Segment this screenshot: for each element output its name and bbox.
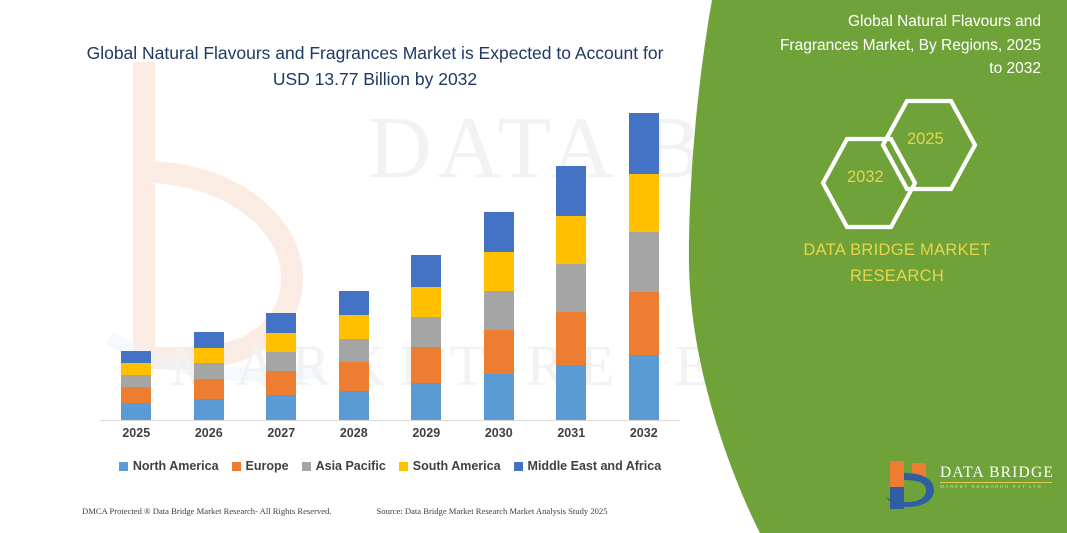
x-axis-label-2027: 2027 <box>245 426 318 440</box>
legend-label: North America <box>133 459 219 473</box>
chart-title: Global Natural Flavours and Fragrances M… <box>70 40 680 93</box>
legend-label: Asia Pacific <box>316 459 386 473</box>
bar-segment[interactable] <box>266 395 296 421</box>
bar-segment[interactable] <box>411 287 441 317</box>
bar-segment[interactable] <box>339 315 369 338</box>
x-axis-label-2031: 2031 <box>535 426 608 440</box>
chart-legend: North AmericaEuropeAsia PacificSouth Ame… <box>100 455 680 477</box>
x-axis-label-2026: 2026 <box>173 426 246 440</box>
bar-segment[interactable] <box>629 113 659 174</box>
bar-segment[interactable] <box>194 379 224 399</box>
data-bridge-logo: DATA BRIDGE MARKET RESEARCH PVT LTD <box>882 455 1062 517</box>
legend-item[interactable]: North America <box>119 459 219 473</box>
infographic-canvas: DATA BRIDGE MARKET RESEARCH Global Natur… <box>0 0 1067 533</box>
bar-segment[interactable] <box>121 351 151 363</box>
bar-segment[interactable] <box>266 313 296 333</box>
bar-segment[interactable] <box>194 348 224 363</box>
bar-group[interactable] <box>266 313 296 421</box>
panel-brand-text: DATA BRIDGE MARKET RESEARCH <box>757 237 1037 290</box>
bar-segment[interactable] <box>556 216 586 264</box>
bar-segment[interactable] <box>121 363 151 375</box>
bar-segment[interactable] <box>411 255 441 287</box>
bar-group[interactable] <box>629 113 659 421</box>
legend-swatch-icon <box>232 462 241 471</box>
bar-segment[interactable] <box>484 212 514 252</box>
x-axis-labels: 20252026202720282029203020312032 <box>100 426 680 448</box>
bar-segment[interactable] <box>121 375 151 387</box>
legend-item[interactable]: Middle East and Africa <box>514 459 662 473</box>
x-axis-label-2029: 2029 <box>390 426 463 440</box>
bar-segment[interactable] <box>266 371 296 395</box>
logo-b-mark-icon <box>882 457 938 513</box>
bar-segment[interactable] <box>194 363 224 379</box>
bar-segment[interactable] <box>339 291 369 315</box>
bar-segment[interactable] <box>121 403 151 421</box>
legend-swatch-icon <box>302 462 311 471</box>
legend-item[interactable]: South America <box>399 459 501 473</box>
logo-tagline: MARKET RESEARCH PVT LTD <box>940 484 1042 489</box>
x-axis-label-2032: 2032 <box>608 426 681 440</box>
green-panel-content: Global Natural Flavours and Fragrances M… <box>707 0 1067 533</box>
bar-segment[interactable] <box>411 347 441 383</box>
bar-segment[interactable] <box>194 332 224 348</box>
bar-segment[interactable] <box>484 330 514 374</box>
x-axis-label-2028: 2028 <box>318 426 391 440</box>
bar-segment[interactable] <box>266 352 296 371</box>
bar-group[interactable] <box>339 291 369 421</box>
legend-swatch-icon <box>514 462 523 471</box>
bar-segment[interactable] <box>629 292 659 355</box>
legend-label: South America <box>413 459 501 473</box>
chart-plot-area <box>100 110 680 421</box>
hexagon-label-2032: 2032 <box>847 168 884 187</box>
hexagon-label-2025: 2025 <box>907 130 944 149</box>
x-axis-label-2030: 2030 <box>463 426 536 440</box>
bar-segment[interactable] <box>266 333 296 352</box>
bar-group[interactable] <box>556 166 586 421</box>
bar-segment[interactable] <box>194 399 224 421</box>
bar-segment[interactable] <box>556 312 586 365</box>
bar-group[interactable] <box>121 351 151 421</box>
legend-swatch-icon <box>399 462 408 471</box>
bar-segment[interactable] <box>556 166 586 216</box>
logo-divider <box>940 482 1052 483</box>
legend-item[interactable]: Europe <box>232 459 289 473</box>
x-axis-label-2025: 2025 <box>100 426 173 440</box>
bar-segment[interactable] <box>629 355 659 421</box>
bar-segment[interactable] <box>339 391 369 421</box>
bar-segment[interactable] <box>411 317 441 347</box>
bar-group[interactable] <box>411 255 441 421</box>
bar-segment[interactable] <box>339 362 369 390</box>
logo-name: DATA BRIDGE <box>940 464 1054 482</box>
bar-segment[interactable] <box>484 374 514 421</box>
legend-label: Middle East and Africa <box>528 459 662 473</box>
bar-group[interactable] <box>484 212 514 421</box>
bar-segment[interactable] <box>411 383 441 421</box>
bar-segment[interactable] <box>484 252 514 291</box>
x-axis-line <box>100 420 680 421</box>
legend-swatch-icon <box>119 462 128 471</box>
footer-bar: DMCA Protected ® Data Bridge Market Rese… <box>82 506 682 526</box>
bar-segment[interactable] <box>629 232 659 291</box>
bar-group[interactable] <box>194 332 224 421</box>
footer-source-text: Source: Data Bridge Market Research Mark… <box>377 506 608 516</box>
bar-segment[interactable] <box>556 365 586 421</box>
bar-segment[interactable] <box>339 339 369 363</box>
bar-segment[interactable] <box>484 291 514 330</box>
legend-item[interactable]: Asia Pacific <box>302 459 386 473</box>
bar-segment[interactable] <box>121 387 151 403</box>
bar-segment[interactable] <box>629 174 659 233</box>
legend-label: Europe <box>246 459 289 473</box>
footer-dmca-text: DMCA Protected ® Data Bridge Market Rese… <box>82 506 332 516</box>
bar-segment[interactable] <box>556 264 586 312</box>
